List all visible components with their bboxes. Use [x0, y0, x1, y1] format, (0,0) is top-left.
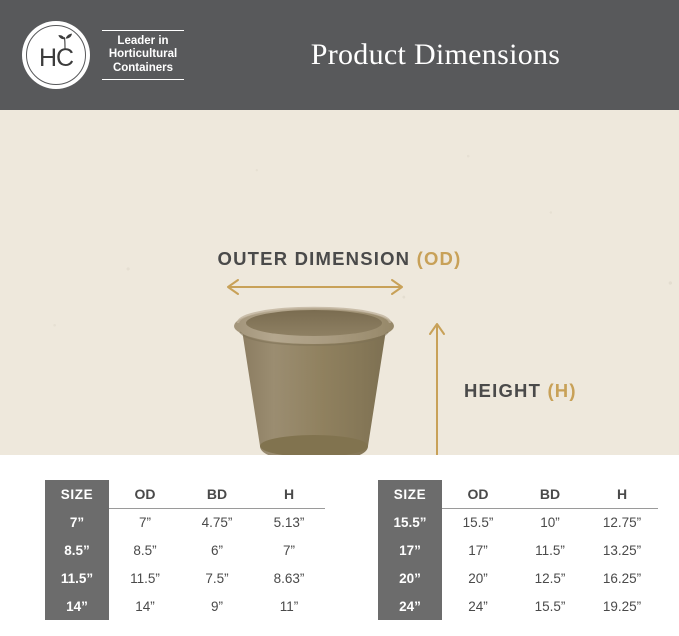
cell-bd: 11.5” [514, 536, 586, 564]
cell-bd: 15.5” [514, 592, 586, 620]
table-header-row: SIZEODBDH [378, 480, 658, 508]
cell-h: 7” [253, 536, 325, 564]
column-header-h: H [586, 480, 658, 508]
cell-bd: 6” [181, 536, 253, 564]
cell-od: 7” [109, 508, 181, 536]
table-body: 15.5”15.5”10”12.75”17”17”11.5”13.25”20”2… [378, 508, 658, 620]
cell-h: 16.25” [586, 564, 658, 592]
table-row: 15.5”15.5”10”12.75” [378, 508, 658, 536]
cell-od: 17” [442, 536, 514, 564]
table-header-row: SIZEODBDH [45, 480, 325, 508]
dimension-table-large: SIZEODBDH 15.5”15.5”10”12.75”17”17”11.5”… [378, 480, 658, 620]
table-row: 8.5”8.5”6”7” [45, 536, 325, 564]
illustration-panel: OUTER DIMENSION (OD) [0, 110, 679, 455]
cell-size: 11.5” [45, 564, 109, 592]
cell-size: 17” [378, 536, 442, 564]
column-header-size: SIZE [45, 480, 109, 508]
cell-bd: 9” [181, 592, 253, 620]
cell-od: 20” [442, 564, 514, 592]
cell-size: 14” [45, 592, 109, 620]
table: SIZEODBDH 15.5”15.5”10”12.75”17”17”11.5”… [378, 480, 658, 620]
cell-size: 7” [45, 508, 109, 536]
table-row: 20”20”12.5”16.25” [378, 564, 658, 592]
column-header-bd: BD [514, 480, 586, 508]
cell-od: 8.5” [109, 536, 181, 564]
table: SIZEODBDH 7”7”4.75”5.13”8.5”8.5”6”7”11.5… [45, 480, 325, 620]
outer-dimension-arrow-icon [222, 278, 408, 296]
cell-h: 8.63” [253, 564, 325, 592]
table-row: 11.5”11.5”7.5”8.63” [45, 564, 325, 592]
cell-od: 24” [442, 592, 514, 620]
page-header: HC Leader inHorticulturalContainers Prod… [0, 0, 679, 110]
height-label: HEIGHT (H) [464, 380, 577, 402]
column-header-od: OD [442, 480, 514, 508]
cell-bd: 7.5” [181, 564, 253, 592]
cell-size: 8.5” [45, 536, 109, 564]
outer-dimension-text: OUTER DIMENSION [218, 248, 417, 269]
cell-size: 20” [378, 564, 442, 592]
column-header-h: H [253, 480, 325, 508]
cell-h: 5.13” [253, 508, 325, 536]
height-text: HEIGHT [464, 380, 547, 401]
table-row: 24”24”15.5”19.25” [378, 592, 658, 620]
cell-od: 11.5” [109, 564, 181, 592]
plant-pot-illustration [228, 306, 400, 455]
table-body: 7”7”4.75”5.13”8.5”8.5”6”7”11.5”11.5”7.5”… [45, 508, 325, 620]
dimension-table-small: SIZEODBDH 7”7”4.75”5.13”8.5”8.5”6”7”11.5… [45, 480, 325, 620]
table-row: 17”17”11.5”13.25” [378, 536, 658, 564]
cell-h: 11” [253, 592, 325, 620]
page-title: Product Dimensions [0, 0, 679, 110]
cell-od: 14” [109, 592, 181, 620]
outer-dimension-code: (OD) [417, 248, 462, 269]
outer-dimension-label: OUTER DIMENSION (OD) [0, 248, 679, 270]
cell-od: 15.5” [442, 508, 514, 536]
cell-h: 12.75” [586, 508, 658, 536]
height-code: (H) [547, 380, 576, 401]
cell-bd: 12.5” [514, 564, 586, 592]
height-arrow-icon [424, 318, 450, 455]
table-row: 7”7”4.75”5.13” [45, 508, 325, 536]
column-header-bd: BD [181, 480, 253, 508]
cell-h: 13.25” [586, 536, 658, 564]
column-header-od: OD [109, 480, 181, 508]
table-row: 14”14”9”11” [45, 592, 325, 620]
cell-bd: 4.75” [181, 508, 253, 536]
column-header-size: SIZE [378, 480, 442, 508]
cell-size: 15.5” [378, 508, 442, 536]
cell-h: 19.25” [586, 592, 658, 620]
cell-size: 24” [378, 592, 442, 620]
cell-bd: 10” [514, 508, 586, 536]
